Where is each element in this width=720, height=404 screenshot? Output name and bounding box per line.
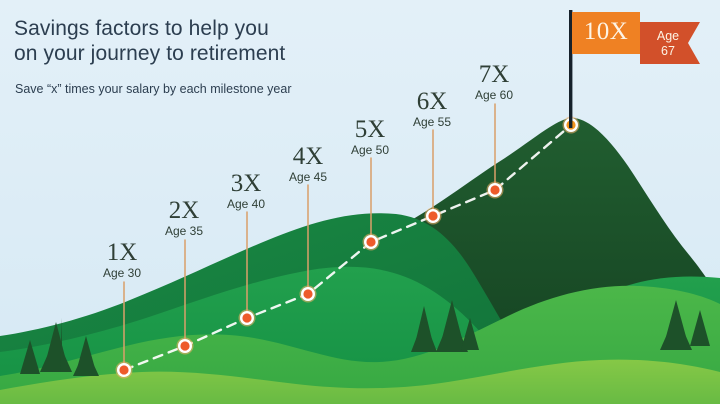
milestone-label-1x: 1X Age 30 (103, 239, 141, 281)
milestone-label-7x: 7X Age 60 (475, 61, 513, 103)
milestone-age: Age 55 (413, 115, 451, 130)
milestone-multiplier: 1X (103, 239, 141, 266)
marker-7x (487, 182, 504, 199)
milestone-label-5x: 5X Age 50 (351, 116, 389, 158)
milestone-age: Age 50 (351, 143, 389, 158)
flag-age-value: 67 (642, 44, 694, 59)
milestone-age: Age 35 (165, 224, 203, 239)
milestone-label-6x: 6X Age 55 (413, 88, 451, 130)
marker-1x (116, 362, 133, 379)
milestone-age: Age 40 (227, 197, 265, 212)
milestone-multiplier: 3X (227, 170, 265, 197)
milestone-multiplier: 4X (289, 143, 327, 170)
milestone-age: Age 45 (289, 170, 327, 185)
milestone-multiplier: 5X (351, 116, 389, 143)
marker-6x (425, 208, 442, 225)
milestone-label-2x: 2X Age 35 (165, 197, 203, 239)
flag-multiplier-label: 10X (572, 13, 640, 51)
marker-4x (300, 286, 317, 303)
marker-2x (177, 338, 194, 355)
milestone-multiplier: 6X (413, 88, 451, 115)
flag-age-label: Age 67 (642, 23, 694, 59)
page-title-line-1: Savings factors to help you (14, 16, 434, 41)
milestone-multiplier: 2X (165, 197, 203, 224)
flag-age-word: Age (642, 29, 694, 44)
page-title: Savings factors to help you on your jour… (14, 16, 434, 66)
milestone-age: Age 30 (103, 266, 141, 281)
infographic-root: Savings factors to help you on your jour… (0, 0, 720, 404)
marker-3x (239, 310, 256, 327)
page-title-line-2: on your journey to retirement (14, 41, 434, 66)
milestone-multiplier: 7X (475, 61, 513, 88)
milestone-label-3x: 3X Age 40 (227, 170, 265, 212)
milestone-age: Age 60 (475, 88, 513, 103)
marker-5x (363, 234, 380, 251)
milestone-label-4x: 4X Age 45 (289, 143, 327, 185)
page-subtitle: Save “x” times your salary by each miles… (15, 82, 435, 97)
